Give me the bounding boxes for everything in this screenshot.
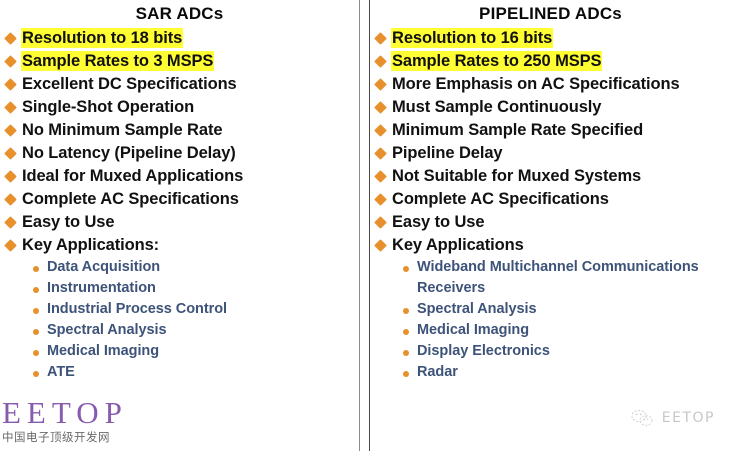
bullet-item: Pipeline Delay bbox=[370, 142, 731, 165]
bullet-label: Sample Rates to 3 MSPS bbox=[22, 50, 213, 73]
comparison-slide: SAR ADCs Resolution to 18 bitsSample Rat… bbox=[0, 0, 731, 451]
bullet-item: No Minimum Sample Rate bbox=[0, 119, 359, 142]
sub-bullet-item: Display Electronics bbox=[370, 341, 731, 362]
diamond-bullet-icon bbox=[4, 147, 17, 160]
bullet-label: More Emphasis on AC Specifications bbox=[392, 73, 680, 96]
diamond-bullet-icon bbox=[374, 239, 387, 252]
bullet-label: ATE bbox=[47, 362, 75, 383]
bullet-label: Display Electronics bbox=[417, 341, 550, 362]
bullet-label: Pipeline Delay bbox=[392, 142, 502, 165]
watermark-left-word: EETOP bbox=[2, 398, 128, 428]
diamond-bullet-icon bbox=[374, 193, 387, 206]
bullet-label: Medical Imaging bbox=[47, 341, 159, 362]
diamond-bullet-icon bbox=[374, 101, 387, 114]
dot-bullet-icon bbox=[403, 350, 409, 356]
diamond-bullet-icon bbox=[374, 124, 387, 137]
bullet-item: Single-Shot Operation bbox=[0, 96, 359, 119]
dot-bullet-icon bbox=[33, 308, 39, 314]
bullet-label: Resolution to 16 bits bbox=[392, 27, 552, 50]
bullet-item: Key Applications: bbox=[0, 234, 359, 257]
diamond-bullet-icon bbox=[374, 55, 387, 68]
bullet-label: Data Acquisition bbox=[47, 257, 160, 278]
bullet-label: Not Suitable for Muxed Systems bbox=[392, 165, 641, 188]
bullet-label: Minimum Sample Rate Specified bbox=[392, 119, 643, 142]
bullet-label: No Minimum Sample Rate bbox=[22, 119, 222, 142]
diamond-bullet-icon bbox=[4, 32, 17, 45]
dot-bullet-icon bbox=[403, 266, 409, 272]
bullet-item: More Emphasis on AC Specifications bbox=[370, 73, 731, 96]
sub-bullet-item: Spectral Analysis bbox=[370, 299, 731, 320]
bullet-label: Ideal for Muxed Applications bbox=[22, 165, 243, 188]
bullet-label: Easy to Use bbox=[22, 211, 114, 234]
watermark-left: EETOP 中国电子顶级开发网 bbox=[2, 398, 128, 444]
dot-bullet-icon bbox=[33, 371, 39, 377]
bullet-item: Complete AC Specifications bbox=[0, 188, 359, 211]
diamond-bullet-icon bbox=[374, 147, 387, 160]
diamond-bullet-icon bbox=[4, 78, 17, 91]
diamond-bullet-icon bbox=[4, 101, 17, 114]
diamond-bullet-icon bbox=[4, 216, 17, 229]
bullet-label: Resolution to 18 bits bbox=[22, 27, 182, 50]
watermark-left-subtitle: 中国电子顶级开发网 bbox=[2, 430, 128, 444]
panel-title-left: SAR ADCs bbox=[0, 0, 359, 27]
diamond-bullet-icon bbox=[4, 55, 17, 68]
dot-bullet-icon bbox=[33, 329, 39, 335]
bullet-item: Excellent DC Specifications bbox=[0, 73, 359, 96]
sub-bullet-item: Spectral Analysis bbox=[0, 320, 359, 341]
sub-bullet-item: Industrial Process Control bbox=[0, 299, 359, 320]
diamond-bullet-icon bbox=[4, 124, 17, 137]
bullet-item: Resolution to 18 bits bbox=[0, 27, 359, 50]
bullet-item: Easy to Use bbox=[370, 211, 731, 234]
watermark-right-word: EETOP bbox=[662, 410, 715, 426]
sub-bullet-item: Instrumentation bbox=[0, 278, 359, 299]
bullet-label: No Latency (Pipeline Delay) bbox=[22, 142, 236, 165]
diamond-bullet-icon bbox=[374, 170, 387, 183]
diamond-bullet-icon bbox=[374, 32, 387, 45]
bullet-item: Must Sample Continuously bbox=[370, 96, 731, 119]
diamond-bullet-icon bbox=[374, 216, 387, 229]
bullet-label: Wideband Multichannel Communications Rec… bbox=[417, 257, 731, 299]
bullet-item: No Latency (Pipeline Delay) bbox=[0, 142, 359, 165]
bullet-label: Spectral Analysis bbox=[47, 320, 167, 341]
sub-bullet-item: Medical Imaging bbox=[0, 341, 359, 362]
bullet-label: Easy to Use bbox=[392, 211, 484, 234]
diamond-bullet-icon bbox=[374, 78, 387, 91]
sub-bullet-item: Medical Imaging bbox=[370, 320, 731, 341]
bullet-item: Sample Rates to 250 MSPS bbox=[370, 50, 731, 73]
bullet-label: Key Applications: bbox=[22, 234, 159, 257]
bullet-label: Single-Shot Operation bbox=[22, 96, 194, 119]
dot-bullet-icon bbox=[33, 266, 39, 272]
highlighted-text: Sample Rates to 3 MSPS bbox=[22, 52, 213, 70]
highlighted-text: Resolution to 18 bits bbox=[22, 29, 182, 47]
sub-bullet-item: Wideband Multichannel Communications Rec… bbox=[370, 257, 731, 299]
bullet-list-left: Resolution to 18 bitsSample Rates to 3 M… bbox=[0, 27, 359, 383]
panel-sar-adcs: SAR ADCs Resolution to 18 bitsSample Rat… bbox=[0, 0, 360, 451]
bullet-label: Industrial Process Control bbox=[47, 299, 227, 320]
panel-title-right: PIPELINED ADCs bbox=[370, 0, 731, 27]
diamond-bullet-icon bbox=[4, 170, 17, 183]
bullet-list-right: Resolution to 16 bitsSample Rates to 250… bbox=[370, 27, 731, 383]
bullet-item: Complete AC Specifications bbox=[370, 188, 731, 211]
bullet-label: Must Sample Continuously bbox=[392, 96, 601, 119]
highlighted-text: Resolution to 16 bits bbox=[392, 29, 552, 47]
bullet-item: Easy to Use bbox=[0, 211, 359, 234]
bullet-label: Excellent DC Specifications bbox=[22, 73, 237, 96]
dot-bullet-icon bbox=[403, 371, 409, 377]
bullet-item: Resolution to 16 bits bbox=[370, 27, 731, 50]
diamond-bullet-icon bbox=[4, 239, 17, 252]
panel-pipelined-adcs: PIPELINED ADCs Resolution to 16 bitsSamp… bbox=[369, 0, 731, 451]
bullet-label: Key Applications bbox=[392, 234, 524, 257]
bullet-label: Radar bbox=[417, 362, 458, 383]
dot-bullet-icon bbox=[33, 287, 39, 293]
bullet-item: Ideal for Muxed Applications bbox=[0, 165, 359, 188]
bullet-item: Minimum Sample Rate Specified bbox=[370, 119, 731, 142]
sub-bullet-item: ATE bbox=[0, 362, 359, 383]
sub-bullet-item: Radar bbox=[370, 362, 731, 383]
bullet-label: Spectral Analysis bbox=[417, 299, 537, 320]
bullet-label: Medical Imaging bbox=[417, 320, 529, 341]
highlighted-text: Sample Rates to 250 MSPS bbox=[392, 52, 601, 70]
dot-bullet-icon bbox=[403, 329, 409, 335]
dot-bullet-icon bbox=[403, 308, 409, 314]
diamond-bullet-icon bbox=[4, 193, 17, 206]
panel-divider-gap bbox=[360, 0, 369, 451]
bullet-label: Instrumentation bbox=[47, 278, 156, 299]
bullet-label: Complete AC Specifications bbox=[22, 188, 239, 211]
watermark-right: EETOP bbox=[631, 409, 715, 427]
wechat-icon bbox=[631, 409, 653, 427]
sub-bullet-item: Data Acquisition bbox=[0, 257, 359, 278]
bullet-item: Sample Rates to 3 MSPS bbox=[0, 50, 359, 73]
bullet-label: Complete AC Specifications bbox=[392, 188, 609, 211]
bullet-item: Key Applications bbox=[370, 234, 731, 257]
bullet-label: Sample Rates to 250 MSPS bbox=[392, 50, 601, 73]
dot-bullet-icon bbox=[33, 350, 39, 356]
bullet-item: Not Suitable for Muxed Systems bbox=[370, 165, 731, 188]
